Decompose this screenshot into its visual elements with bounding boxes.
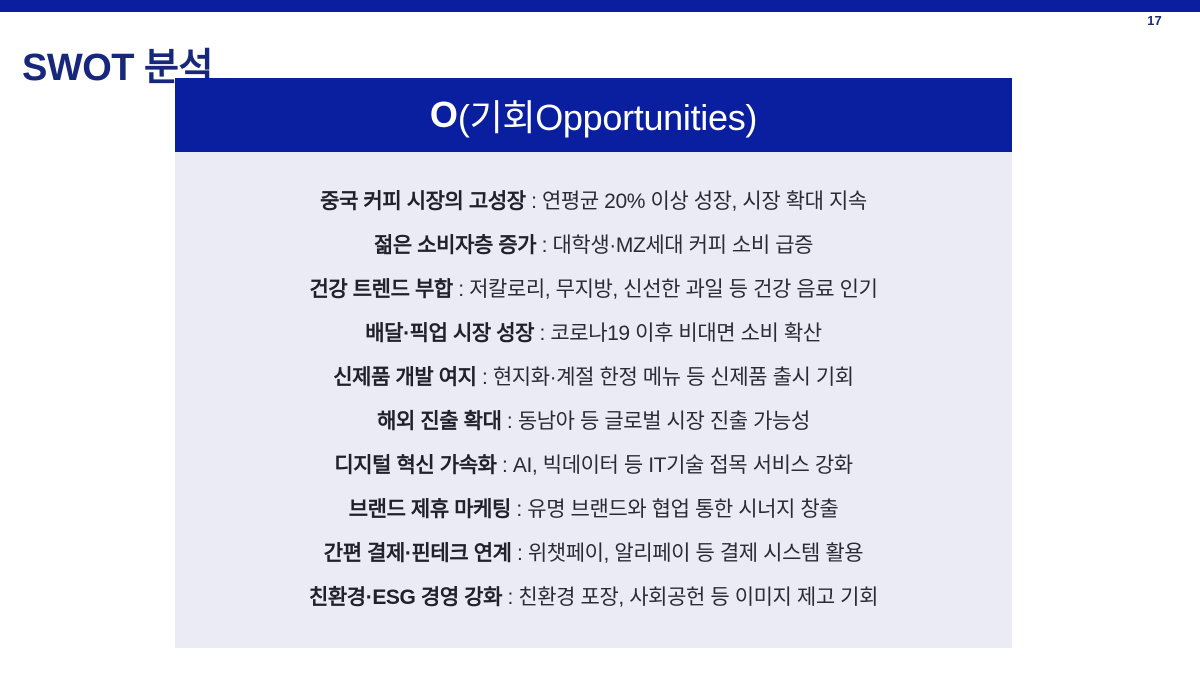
list-item: 해외 진출 확대 : 동남아 등 글로벌 시장 진출 가능성	[191, 400, 996, 444]
list-item-lead: 젊은 소비자층 증가	[374, 234, 536, 257]
list-item: 젊은 소비자층 증가 : 대학생·MZ세대 커피 소비 급증	[191, 224, 996, 268]
list-item-detail: 저칼로리, 무지방, 신선한 과일 등 건강 음료 인기	[469, 278, 877, 301]
panel-header-label: (기회Opportunities)	[458, 89, 757, 141]
list-item: 중국 커피 시장의 고성장 : 연평균 20% 이상 성장, 시장 확대 지속	[191, 180, 996, 224]
list-item-detail: 연평균 20% 이상 성장, 시장 확대 지속	[542, 190, 867, 213]
list-item: 배달·픽업 시장 성장 : 코로나19 이후 비대면 소비 확산	[191, 312, 996, 356]
list-item-separator: :	[453, 278, 469, 301]
list-item-detail: 유명 브랜드와 협업 통한 시너지 창출	[527, 498, 838, 521]
list-item-lead: 신제품 개발 여지	[333, 366, 476, 389]
list-item-lead: 브랜드 제휴 마케팅	[349, 498, 511, 521]
list-item-lead: 건강 트렌드 부합	[309, 278, 452, 301]
list-item-lead: 친환경·ESG 경영 강화	[309, 586, 502, 609]
panel-header: O(기회Opportunities)	[175, 78, 1012, 152]
list-item: 디지털 혁신 가속화 : AI, 빅데이터 등 IT기술 접목 서비스 강화	[191, 444, 996, 488]
list-item: 친환경·ESG 경영 강화 : 친환경 포장, 사회공헌 등 이미지 제고 기회	[191, 576, 996, 620]
list-item-separator: :	[512, 542, 528, 565]
opportunity-mark-icon: O	[430, 94, 458, 136]
list-item-lead: 해외 진출 확대	[377, 410, 501, 433]
list-item-separator: :	[534, 322, 550, 345]
list-item-separator: :	[526, 190, 542, 213]
list-item-detail: 대학생·MZ세대 커피 소비 급증	[553, 234, 814, 257]
list-item: 간편 결제·핀테크 연계 : 위챗페이, 알리페이 등 결제 시스템 활용	[191, 532, 996, 576]
list-item-detail: 친환경 포장, 사회공헌 등 이미지 제고 기회	[518, 586, 878, 609]
list-item-lead: 디지털 혁신 가속화	[334, 454, 496, 477]
list-item-separator: :	[511, 498, 527, 521]
list-item-separator: :	[536, 234, 552, 257]
list-item-separator: :	[502, 410, 518, 433]
opportunities-panel: O(기회Opportunities) 중국 커피 시장의 고성장 : 연평균 2…	[175, 78, 1012, 648]
list-item-lead: 중국 커피 시장의 고성장	[320, 190, 526, 213]
list-item-detail: AI, 빅데이터 등 IT기술 접목 서비스 강화	[513, 454, 853, 477]
list-item-lead: 배달·픽업 시장 성장	[365, 322, 534, 345]
list-item: 건강 트렌드 부합 : 저칼로리, 무지방, 신선한 과일 등 건강 음료 인기	[191, 268, 996, 312]
list-item-separator: :	[497, 454, 513, 477]
list-item: 브랜드 제휴 마케팅 : 유명 브랜드와 협업 통한 시너지 창출	[191, 488, 996, 532]
list-item-detail: 코로나19 이후 비대면 소비 확산	[550, 322, 821, 345]
list-item-detail: 위챗페이, 알리페이 등 결제 시스템 활용	[528, 542, 863, 565]
list-item-separator: :	[477, 366, 493, 389]
top-accent-bar	[0, 0, 1200, 12]
panel-body: 중국 커피 시장의 고성장 : 연평균 20% 이상 성장, 시장 확대 지속 …	[175, 152, 1012, 648]
page-number: 17	[1147, 14, 1162, 27]
list-item-lead: 간편 결제·핀테크 연계	[324, 542, 512, 565]
slide-canvas: 17 SWOT 분석 O(기회Opportunities) 중국 커피 시장의 …	[0, 0, 1200, 675]
list-item-separator: :	[502, 586, 518, 609]
list-item: 신제품 개발 여지 : 현지화·계절 한정 메뉴 등 신제품 출시 기회	[191, 356, 996, 400]
list-item-detail: 현지화·계절 한정 메뉴 등 신제품 출시 기회	[493, 366, 854, 389]
list-item-detail: 동남아 등 글로벌 시장 진출 가능성	[518, 410, 810, 433]
